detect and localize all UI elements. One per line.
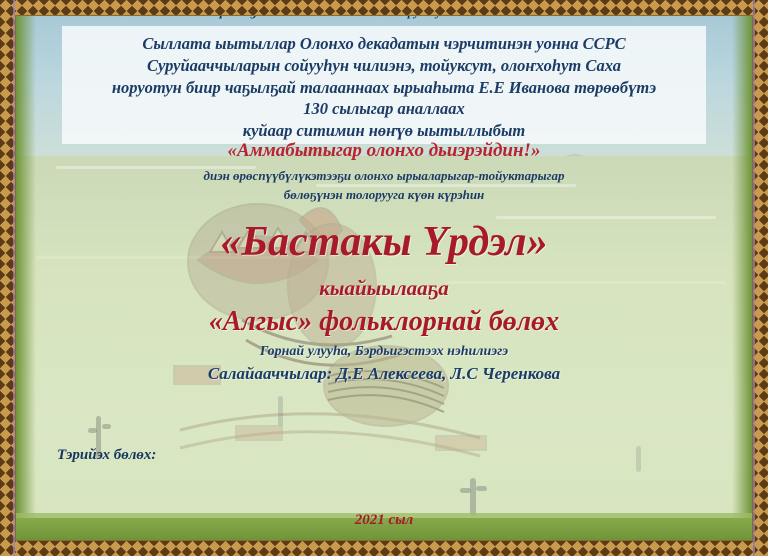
certificate-year: 2021 сыл <box>0 512 768 529</box>
subtitle-line-2: бөлөҕүнэн толорууга күөн күрэһин <box>0 186 768 205</box>
frame-inner-line-top <box>15 15 753 16</box>
intro-line-1: Сыллата ыытыллар Олонхо декадатын чэрчит… <box>20 33 748 55</box>
intro-line-2: Суруйааччыларын сойууһун чилиэнэ, тойукс… <box>20 55 748 77</box>
winner-name: «Алгыс» фольклорнай бөлөх <box>0 306 768 338</box>
frame-inner-line-left <box>15 15 16 541</box>
event-motto: «Аммабытыгар олонхо дьиэрэйдин!» <box>0 140 768 162</box>
frame-inner-line-bottom <box>15 540 753 541</box>
award-title: «Бастакы Үрдэл» <box>0 218 768 266</box>
intro-line-4: 130 сылыгар аналлаах <box>20 98 748 120</box>
certificate-content: Бөтүннээҕи «С.Я. Левин аатынан норуотун … <box>0 0 768 556</box>
frame-trim-right <box>753 0 755 556</box>
frame-trim-left <box>13 0 15 556</box>
intro-paragraph: Сыллата ыытыллар Олонхо декадатын чэрчит… <box>20 33 748 142</box>
frame-border-top <box>0 0 768 15</box>
subtitle-line-1: диэн өрөспүүбүлүкэтээҕи олонхо ырыаларыг… <box>0 167 768 186</box>
frame-border-bottom <box>0 541 768 556</box>
winner-location: Горнай улууһа, Бэрдьигэстээх нэһилиэгэ <box>0 344 768 360</box>
frame-border-right <box>753 0 768 556</box>
intro-line-5: куйаар ситимин нөҥүө ыытыллыбыт <box>20 120 748 142</box>
event-subtitle: диэн өрөспүүбүлүкэтээҕи олонхо ырыаларыг… <box>0 167 768 205</box>
winner-leaders: Салайааччылар: Д.Е Алексеева, Л.С Черенк… <box>0 364 768 384</box>
intro-line-3: норуотун биир чаҕылҕай талааннаах ырыаһы… <box>20 77 748 99</box>
organizer-label: Тэрийэх бөлөх: <box>57 447 156 464</box>
award-subtitle: кыайыылааҕа <box>0 276 768 301</box>
certificate-canvas: Бөтүннээҕи «С.Я. Левин аатынан норуотун … <box>0 0 768 556</box>
